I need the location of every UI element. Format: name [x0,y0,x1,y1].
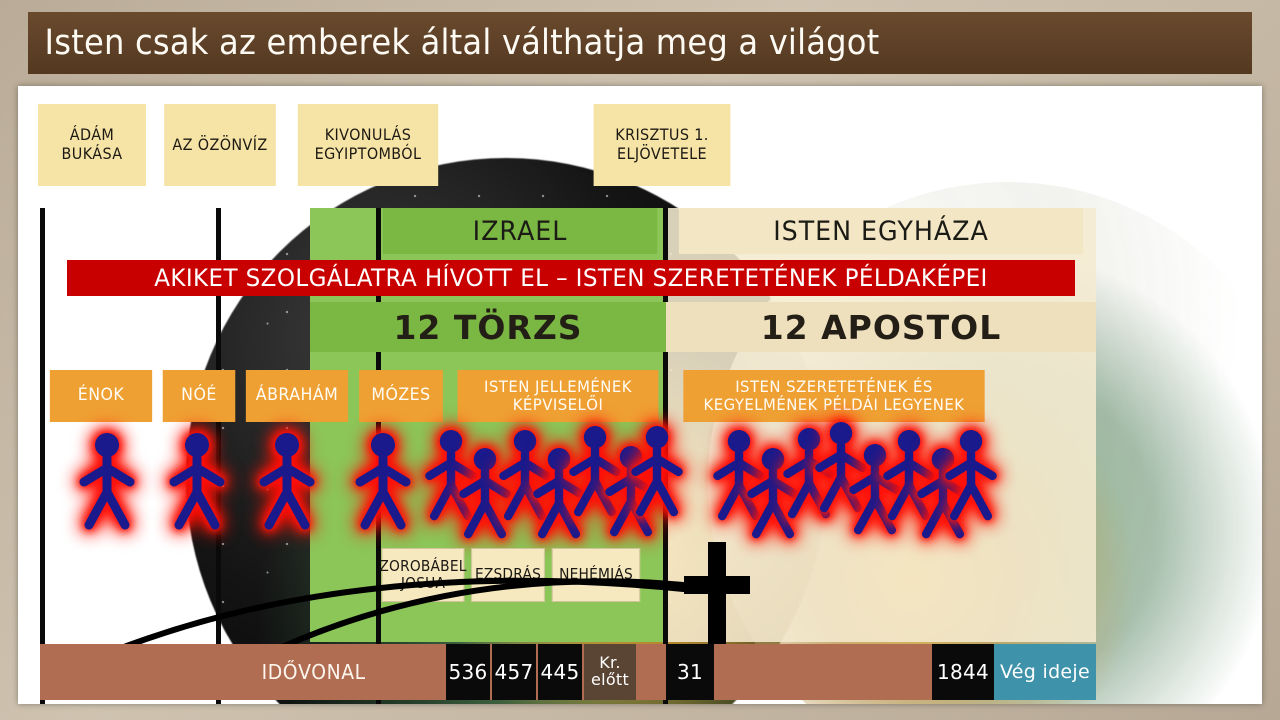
person-name: NÓÉ [181,386,217,405]
person-name: MÓZES [371,386,430,405]
event-box-adam[interactable]: ÁDÁM BUKÁSA [38,104,146,186]
person-name: ÉNOK [78,386,125,405]
event-box-exodus[interactable]: KIVONULÁS EGYIPTOMBÓL [298,104,438,186]
timeline-date-536[interactable]: 536 [446,644,490,700]
timeline-end-time[interactable]: Vég ideje [994,644,1096,700]
group-label: 12 TÖRZS [393,308,582,347]
group-title-twelve-tribes: 12 TÖRZS [310,302,666,352]
returnee-line2: JOSUA [379,575,466,592]
role-line1: ISTEN JELLEMÉNEK [484,378,632,396]
role-box-love-and-grace-examples[interactable]: ISTEN SZERETETÉNEK ÉS KEGYELMÉNEK PÉLDÁI… [683,370,984,422]
event-label-line1: ÁDÁM [62,126,123,145]
timeline-date-1844[interactable]: 1844 [932,644,994,700]
event-box-christ-first-coming[interactable]: KRISZTUS 1. ELJÖVETELE [594,104,731,186]
end-time-label: Vég ideje [1000,661,1090,683]
role-box-character-representatives[interactable]: ISTEN JELLEMÉNEK KÉPVISELŐI [458,370,659,422]
event-label-line2: EGYIPTOMBÓL [315,145,422,164]
person-icon [942,424,1000,524]
group-label: 12 APOSTOL [761,308,1002,347]
era-note-line2: előtt [591,672,629,689]
banner-text: AKIKET SZOLGÁLATRA HÍVOTT EL – ISTEN SZE… [154,264,988,292]
returnee-box-ezra[interactable]: EZSDRÁS [471,548,545,602]
person-box-moses[interactable]: MÓZES [359,370,443,422]
date-value: 457 [494,660,533,684]
slide-canvas: ÁDÁM BUKÁSA AZ ÖZÖNVÍZ KIVONULÁS EGYIPTO… [18,86,1262,704]
event-label-line1: KRISZTUS 1. [615,126,708,145]
event-box-flood[interactable]: AZ ÖZÖNVÍZ [164,104,276,186]
role-line2: KÉPVISELŐI [484,396,632,414]
returnee-line1: ZOROBÁBEL [379,558,466,575]
person-icon [76,430,138,530]
timeline-label: IDŐVONAL [262,644,375,700]
timeline-date-445[interactable]: 445 [538,644,582,700]
page-title: Isten csak az emberek által válthatja me… [28,23,879,63]
person-icon [352,430,414,530]
date-value: 1844 [937,660,989,684]
date-value: 31 [677,660,703,684]
event-label-line1: AZ ÖZÖNVÍZ [172,136,267,155]
era-label: IZRAEL [473,216,568,247]
era-band-left-pad [310,208,374,254]
role-line2: KEGYELMÉNEK PÉLDÁI LEGYENEK [704,396,965,414]
person-box-enoch[interactable]: ÉNOK [50,370,152,422]
person-icon [166,430,228,530]
returnee-box-zerubbabel-joshua[interactable]: ZOROBÁBEL JOSUA [382,548,465,602]
date-value: 445 [540,660,579,684]
returnee-line1: NEHÉMIÁS [559,566,633,583]
person-box-abraham[interactable]: ÁBRAHÁM [246,370,348,422]
event-label-line2: ELJÖVETELE [615,145,708,164]
red-banner: AKIKET SZOLGÁLATRA HÍVOTT EL – ISTEN SZE… [67,260,1075,296]
era-header-church: ISTEN EGYHÁZA [679,208,1083,254]
event-label-line2: BUKÁSA [62,145,123,164]
timeline-date-31[interactable]: 31 [666,644,714,700]
person-icon [256,430,318,530]
returnee-box-nehemiah[interactable]: NEHÉMIÁS [552,548,640,602]
era-label: ISTEN EGYHÁZA [773,216,989,247]
timeline-date-457[interactable]: 457 [492,644,536,700]
group-title-twelve-apostles: 12 APOSTOL [666,302,1096,352]
event-label-line1: KIVONULÁS [315,126,422,145]
person-name: ÁBRAHÁM [256,386,338,405]
role-line1: ISTEN SZERETETÉNEK ÉS [704,378,965,396]
event-line-adam [40,208,45,704]
era-header-israel: IZRAEL [383,208,657,254]
timeline-era-note-bc: Kr. előtt [584,644,636,700]
date-value: 536 [448,660,487,684]
slide-title-bar: Isten csak az emberek által válthatja me… [28,12,1252,74]
person-box-noah[interactable]: NÓÉ [163,370,236,422]
returnee-line1: EZSDRÁS [475,566,541,583]
person-icon [628,420,686,520]
